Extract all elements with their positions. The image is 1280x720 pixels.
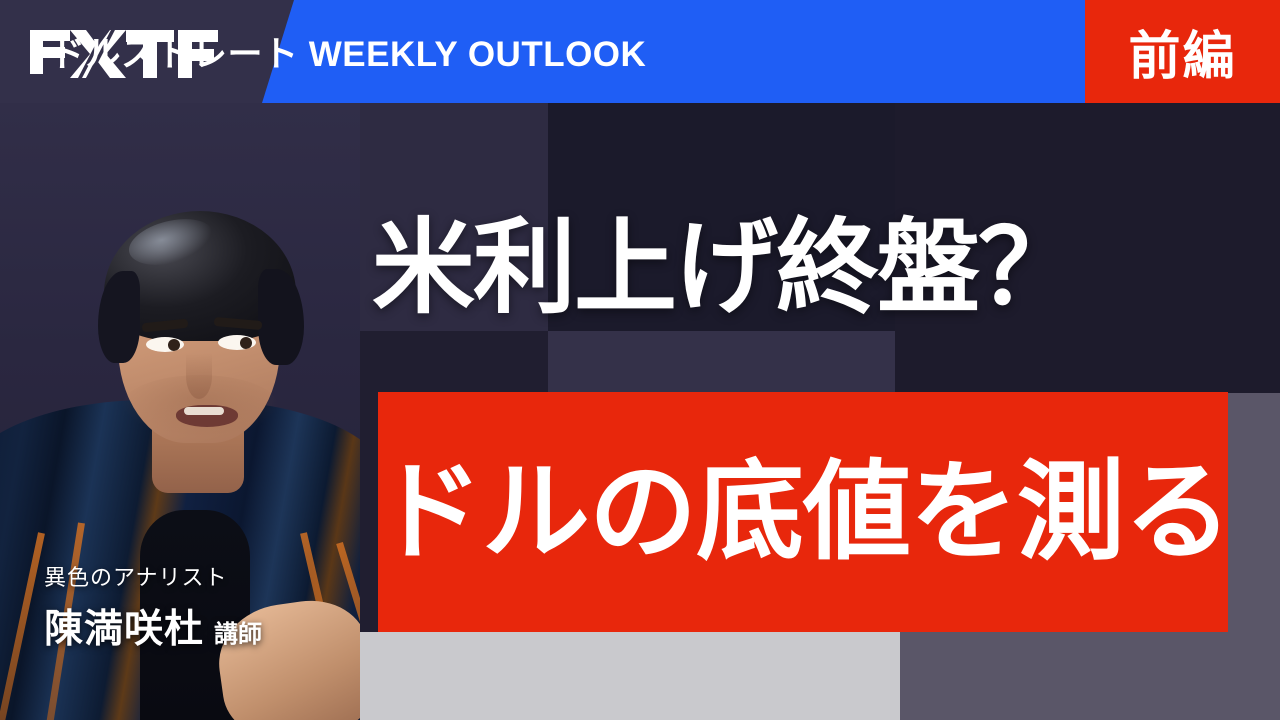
episode-badge-label: 前編 <box>1128 14 1236 89</box>
background-block-bottom-right <box>900 632 1280 720</box>
episode-badge: 前編 <box>1085 0 1280 103</box>
banner-title: ドルストレート WEEKLY OUTLOOK <box>50 0 646 103</box>
nose <box>186 353 212 399</box>
pupil-left <box>168 339 180 351</box>
presenter-name: 陳満咲杜 <box>44 598 204 654</box>
presenter-role: 異色のアナリスト <box>44 560 262 592</box>
header-bar: ドルストレート WEEKLY OUTLOOK 前編 <box>0 0 1280 103</box>
headline-primary: 米利上げ終盤？ <box>372 216 1079 319</box>
pupil-right <box>240 337 252 349</box>
eye-left <box>146 337 184 352</box>
presenter-title: 講師 <box>214 614 262 649</box>
eye-right <box>218 335 256 350</box>
headline-secondary: ドルの底値を測る <box>375 458 1231 566</box>
thumbnail-canvas: ドルストレート WEEKLY OUTLOOK 前編 米利上げ終盤？ ドルの底値を… <box>0 0 1280 720</box>
presenter-name-row: 陳満咲杜 講師 <box>44 598 262 654</box>
background-block-bottom-center <box>330 632 900 720</box>
teeth <box>184 407 224 415</box>
background-block-center-purple <box>548 331 895 393</box>
presenter-caption: 異色のアナリスト 陳満咲杜 講師 <box>44 560 262 654</box>
mouth <box>176 405 238 427</box>
headline-highlight-box: ドルの底値を測る <box>378 392 1228 632</box>
photo-edge-fade <box>270 103 360 720</box>
